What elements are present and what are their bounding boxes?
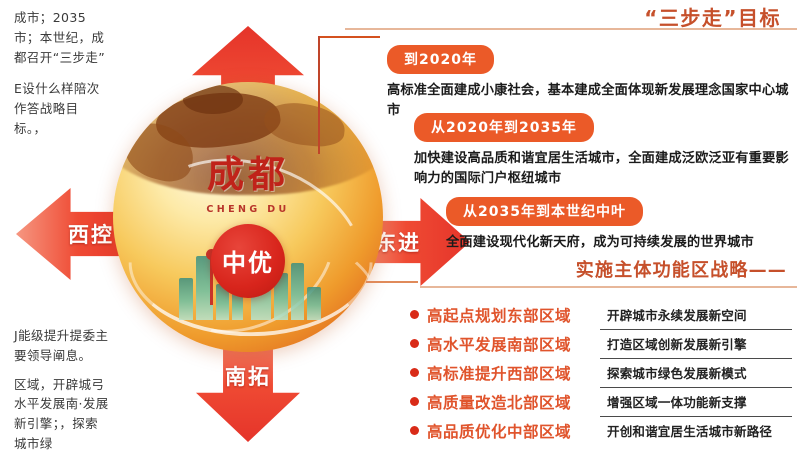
row-separator — [600, 358, 792, 359]
timeline-body-2035-midcentury: 全面建设现代化新天府，成为可持续发展的世界城市 — [446, 233, 794, 253]
connector-line-top — [318, 36, 380, 38]
zone-name: 高品质优化中部区域 — [427, 420, 599, 442]
timeline-pill-2020: 到2020年 — [387, 45, 494, 74]
left-news-column-top: 成市；2035市；本世纪，成都召开“三步走” E设什么样陪次作答战略目标。， — [14, 8, 110, 151]
connector-line-vertical — [318, 36, 320, 154]
zone-description: 打造区域创新发展新引擎 — [599, 334, 747, 353]
title-divider — [345, 28, 797, 30]
zone-name: 高水平发展南部区域 — [427, 333, 599, 355]
zone-name: 高起点规划东部区域 — [427, 304, 599, 326]
bullet-dot-icon — [410, 310, 419, 319]
zone-description: 探索城市绿色发展新模式 — [599, 363, 747, 382]
chengdu-pinyin: CHENG DU — [206, 204, 289, 215]
infographic-root: 成市；2035市；本世纪，成都召开“三步走” E设什么样陪次作答战略目标。， J… — [0, 0, 797, 457]
news-paragraph-4: 区域，开辟城弓水平发展南·发展新引擎；，探索城市绿 — [14, 375, 110, 454]
zone-description: 增强区域一体功能新支撑 — [599, 392, 747, 411]
list-item: 高水平发展南部区域 打造区域创新发展新引擎 — [410, 329, 792, 358]
arrow-west-label: 西控 — [68, 219, 114, 249]
section-title-functional-zones: 实施主体功能区战略—— — [576, 256, 787, 282]
section-divider — [420, 286, 797, 288]
news-paragraph-1: 成市；2035市；本世纪，成都召开“三步走” — [14, 8, 110, 67]
zone-name: 高标准提升西部区域 — [427, 362, 599, 384]
list-item: 高质量改造北部区域 增强区域一体功能新支撑 — [410, 387, 792, 416]
timeline-pill-2020-2035: 从2020年到2035年 — [414, 113, 594, 142]
news-paragraph-3: J能级提升提委主要领导阐息。 — [14, 326, 110, 366]
globe-landmass-icon — [183, 85, 242, 115]
bullet-dot-icon — [410, 397, 419, 406]
connector-line-bottom — [366, 281, 418, 283]
timeline-block-2020-2035: 从2020年到2035年 加快建设高品质和谐宜居生活城市，全面建成泛欧泛亚有重要… — [414, 113, 792, 189]
functional-zone-list: 高起点规划东部区域 开辟城市永续发展新空间 高水平发展南部区域 打造区域创新发展… — [410, 300, 792, 445]
zone-name: 高质量改造北部区域 — [427, 391, 599, 413]
zone-description: 开辟城市永续发展新空间 — [599, 305, 747, 324]
list-item: 高起点规划东部区域 开辟城市永续发展新空间 — [410, 300, 792, 329]
chengdu-calligraphy: 成都 — [207, 144, 289, 198]
chengdu-globe: 成都 CHENG DU 中优 — [113, 82, 383, 352]
list-item: 高标准提升西部区域 探索城市绿色发展新模式 — [410, 358, 792, 387]
bullet-dot-icon — [410, 368, 419, 377]
list-item: 高品质优化中部区域 开创和谐宜居生活城市新路径 — [410, 416, 792, 445]
timeline-block-2020: 到2020年 高标准全面建成小康社会，基本建成全面体现新发展理念国家中心城市 — [387, 45, 789, 121]
bullet-dot-icon — [410, 339, 419, 348]
globe-sphere: 成都 CHENG DU 中优 — [113, 82, 383, 352]
center-seal-label: 中优 — [222, 243, 274, 278]
left-news-column-bottom: J能级提升提委主要领导阐息。 区域，开辟城弓水平发展南·发展新引擎；，探索城市绿 — [14, 326, 110, 457]
news-paragraph-2: E设什么样陪次作答战略目标。， — [14, 79, 110, 138]
row-separator — [600, 416, 792, 417]
row-separator — [600, 387, 792, 388]
bullet-dot-icon — [410, 426, 419, 435]
row-separator — [600, 329, 792, 330]
center-seal-badge: 中优 — [211, 224, 285, 298]
timeline-block-2035-midcentury: 从2035年到本世纪中叶 全面建设现代化新天府，成为可持续发展的世界城市 — [446, 197, 794, 253]
timeline-body-2020-2035: 加快建设高品质和谐宜居生活城市，全面建成泛欧泛亚有重要影响力的国际门户枢纽城市 — [414, 149, 792, 189]
arrow-south-label: 南拓 — [225, 361, 271, 391]
page-title: “三步走”目标 — [644, 2, 781, 31]
timeline-pill-2035-midcentury: 从2035年到本世纪中叶 — [446, 197, 643, 226]
zone-description: 开创和谐宜居生活城市新路径 — [599, 421, 772, 440]
